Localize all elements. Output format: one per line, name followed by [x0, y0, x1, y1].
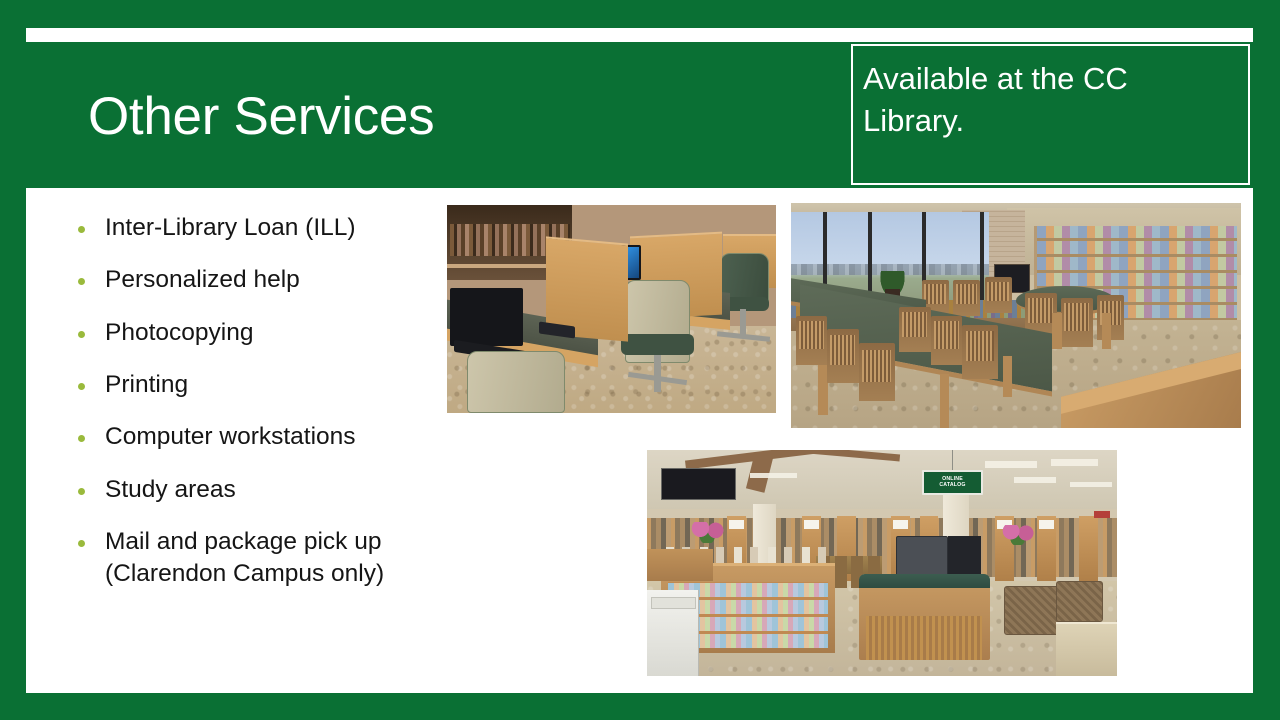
- list-item-label: Computer workstations: [105, 421, 356, 452]
- list-item-label: Mail and package pick up (Clarendon Camp…: [105, 526, 458, 589]
- photo-sign-rod: [952, 450, 953, 470]
- photo-reading-table: [1056, 622, 1117, 676]
- photo-table-leg: [1003, 356, 1013, 397]
- content-panel: Inter-Library Loan (ILL) Personalized he…: [26, 188, 1253, 693]
- slide-other-services: { "slide": { "title": "Other Services", …: [0, 0, 1280, 720]
- photo-light-panel: [750, 473, 797, 479]
- title-block: Other Services: [26, 56, 836, 176]
- list-item: Inter-Library Loan (ILL): [78, 212, 458, 243]
- bullet-dot-icon: [78, 435, 85, 442]
- image-library-reading-room: [791, 203, 1241, 428]
- photo-catalog-desk: [859, 574, 991, 660]
- list-item-label: Photocopying: [105, 317, 253, 348]
- photo-shelf-label: [729, 520, 744, 529]
- bullet-dot-icon: [78, 331, 85, 338]
- photo-chair: [962, 325, 998, 379]
- photo-shelf-label: [893, 520, 908, 529]
- photo-chair-back: [467, 351, 566, 413]
- list-item-label: Inter-Library Loan (ILL): [105, 212, 356, 243]
- photo-chair: [985, 277, 1012, 313]
- photo-catalog-cpu: [948, 536, 981, 577]
- image-library-stacks-online-catalog: ONLINE CATALOG: [647, 450, 1117, 676]
- photo-armchair: [1004, 586, 1060, 636]
- photo-flower-arrangement: [689, 522, 727, 542]
- photo-window-mullion: [980, 212, 984, 307]
- photo-monitor-off: [450, 288, 522, 346]
- list-item: Study areas: [78, 474, 458, 505]
- photo-chair: [835, 556, 847, 588]
- photo-wall-mounted-screen: [661, 468, 736, 500]
- list-item-label: Printing: [105, 369, 188, 400]
- photo-stack-end-panel: [1079, 516, 1098, 582]
- photo-chair: [827, 329, 859, 383]
- photo-table-leg: [1052, 313, 1062, 349]
- bullet-dot-icon: [78, 540, 85, 547]
- photo-chair-seat: [621, 334, 693, 355]
- photo-shelf-label: [1039, 520, 1054, 529]
- bullet-dot-icon: [78, 278, 85, 285]
- photo-light-panel: [1070, 482, 1112, 488]
- photo-shelf-label: [804, 520, 819, 529]
- photo-chair: [953, 280, 980, 316]
- photo-chair: [1061, 298, 1093, 348]
- list-item: Mail and package pick up (Clarendon Camp…: [78, 526, 458, 589]
- photo-table-leg: [940, 374, 950, 428]
- photo-display-shelf: [647, 549, 713, 581]
- subtitle-text: Available at the CC Library.: [863, 58, 1234, 141]
- photo-chair: [931, 316, 963, 366]
- subtitle-box: Available at the CC Library.: [851, 44, 1250, 185]
- image-library-computer-workstations: [447, 205, 776, 413]
- photo-flower-arrangement: [1000, 525, 1038, 545]
- photo-armchair: [1056, 581, 1103, 622]
- services-bullet-list: Inter-Library Loan (ILL) Personalized he…: [78, 212, 458, 610]
- photo-chair-post: [654, 355, 661, 392]
- list-item-label: Study areas: [105, 474, 236, 505]
- bullet-dot-icon: [78, 226, 85, 233]
- photo-copier: [647, 590, 699, 676]
- photo-chair: [859, 343, 895, 402]
- photo-light-panel: [985, 461, 1037, 468]
- page-title: Other Services: [26, 86, 434, 147]
- online-catalog-sign: ONLINE CATALOG: [922, 470, 983, 495]
- list-item: Personalized help: [78, 264, 458, 295]
- sign-line-2: CATALOG: [939, 483, 965, 489]
- list-item-label: Personalized help: [105, 264, 300, 295]
- photo-light-panel: [1051, 459, 1098, 466]
- header-white-rule: [26, 28, 1253, 42]
- photo-chair: [796, 316, 828, 366]
- photo-exit-sign: [1094, 511, 1110, 518]
- photo-light-panel: [1014, 477, 1056, 483]
- list-item: Computer workstations: [78, 421, 458, 452]
- bullet-dot-icon: [78, 383, 85, 390]
- list-item: Photocopying: [78, 317, 458, 348]
- list-item: Printing: [78, 369, 458, 400]
- photo-chair: [899, 307, 931, 352]
- bullet-dot-icon: [78, 488, 85, 495]
- photo-table-leg: [1102, 313, 1112, 349]
